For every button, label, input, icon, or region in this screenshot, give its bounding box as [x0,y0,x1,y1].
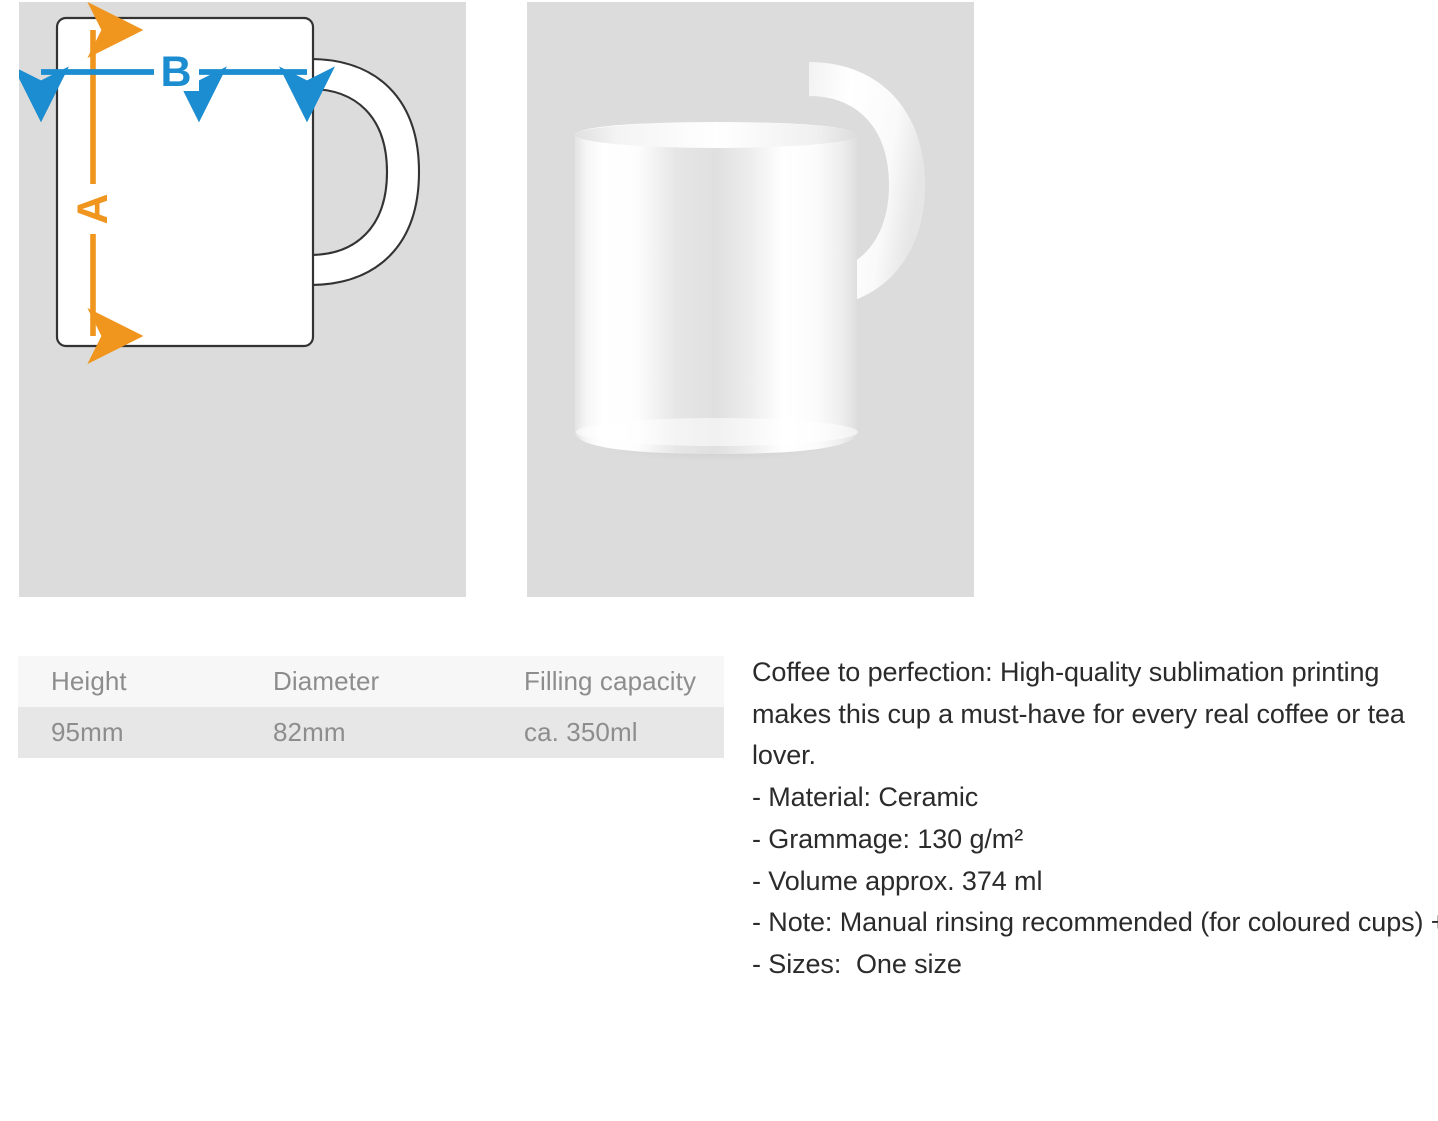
dimension-diagram-svg: A B [19,2,466,597]
description-sizes: - Sizes: One size [752,944,1412,986]
product-photo-svg [527,2,974,597]
mug-body [575,122,857,454]
description-volume: - Volume approx. 374 ml [752,861,1412,903]
description-grammage: - Grammage: 130 g/m² [752,819,1412,861]
cell-diameter-value: 82mm [273,707,524,758]
width-label: B [160,48,191,96]
description-lede: Coffee to perfection: High-quality subli… [752,652,1412,777]
dimension-diagram-panel[interactable]: A B [19,2,466,597]
cell-filling-capacity-value: ca. 350ml [524,707,724,758]
product-photo-panel[interactable] [527,2,974,597]
mug-handle-outline [310,59,419,285]
description-material: - Material: Ceramic [752,777,1412,819]
height-label: A [69,193,117,224]
mug-rim [576,122,858,148]
column-header-diameter: Diameter [273,656,524,707]
table-row: 95mm 82mm ca. 350ml [18,707,724,758]
product-description: Coffee to perfection: High-quality subli… [752,652,1412,986]
column-header-filling-capacity: Filling capacity [524,656,724,707]
description-note: - Note: Manual rinsing recommended (for … [752,902,1412,944]
specifications-table: Height Diameter Filling capacity 95mm 82… [18,656,724,758]
cell-height-value: 95mm [18,707,273,758]
mug-base [576,418,858,446]
column-header-height: Height [18,656,273,707]
table-header-row: Height Diameter Filling capacity [18,656,724,707]
